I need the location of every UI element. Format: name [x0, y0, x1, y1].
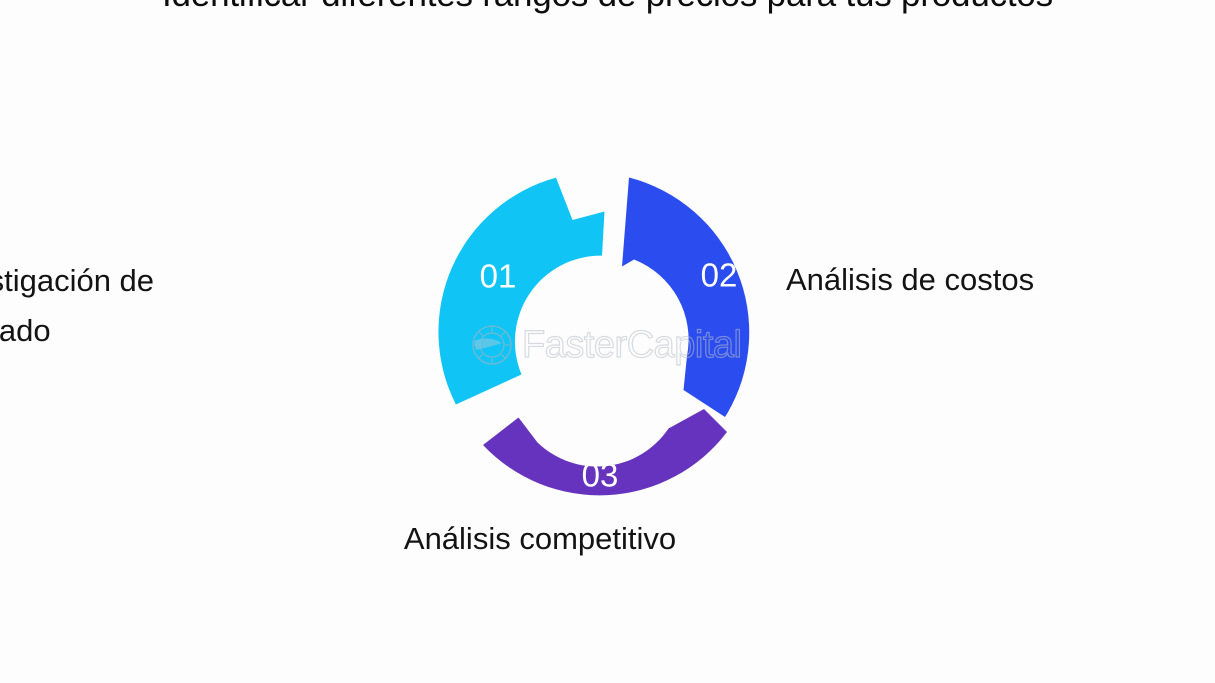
segment-label-03: Análisis competitivo [330, 514, 750, 564]
segment-label-01: Investigación de mercado [0, 256, 265, 356]
donut-number-03: 03 [582, 457, 619, 494]
page-title: Identificar diferentes rangos de precios… [0, 0, 1215, 16]
donut-segment-01-shape[interactable] [438, 178, 604, 405]
slide-canvas: Identificar diferentes rangos de precios… [0, 0, 1215, 683]
donut-diagram: 01 02 03 [425, 160, 785, 520]
donut-number-02: 02 [701, 257, 738, 294]
segment-label-02: Análisis de costos [786, 255, 1206, 305]
donut-number-01: 01 [480, 258, 517, 295]
donut-svg: 01 02 03 [425, 160, 785, 520]
donut-segment-02-shape[interactable] [622, 178, 749, 418]
